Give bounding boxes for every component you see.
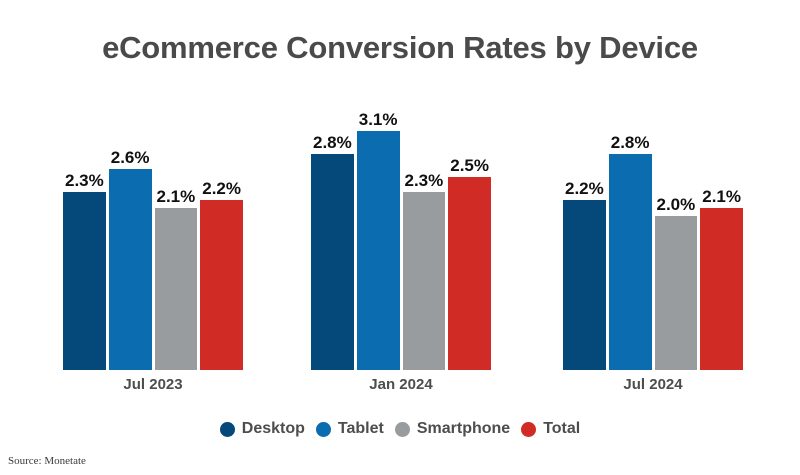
source-note: Source: Monetate <box>8 455 86 467</box>
chart-figure: eCommerce Conversion Rates by Device 2.3… <box>0 0 800 475</box>
legend-item[interactable]: Desktop <box>220 420 305 438</box>
bar[interactable] <box>311 154 354 370</box>
bar-value-label: 2.3% <box>405 172 444 189</box>
plot-area: 2.3%2.6%2.1%2.2%Jul 20232.8%3.1%2.3%2.5%… <box>0 92 800 370</box>
bar-group: 2.8%3.1%2.3%2.5%Jan 2024 <box>311 92 491 370</box>
bar-column: 2.1% <box>155 92 198 370</box>
legend-label: Total <box>543 420 580 438</box>
bar[interactable] <box>700 208 743 370</box>
legend-item[interactable]: Tablet <box>316 420 384 438</box>
legend-item[interactable]: Total <box>521 420 580 438</box>
legend-item[interactable]: Smartphone <box>395 420 510 438</box>
bar-value-label: 2.1% <box>157 188 196 205</box>
bar-group: 2.3%2.6%2.1%2.2%Jul 2023 <box>63 92 243 370</box>
x-axis-tick-label: Jul 2023 <box>63 376 243 393</box>
bar-column: 2.2% <box>563 92 606 370</box>
bar-value-label: 2.5% <box>450 157 489 174</box>
bar-value-label: 2.1% <box>702 188 741 205</box>
x-axis-tick-label: Jul 2024 <box>563 376 743 393</box>
bar-column: 2.6% <box>109 92 152 370</box>
bar-column: 2.3% <box>63 92 106 370</box>
bar[interactable] <box>155 208 198 370</box>
bar-column: 2.0% <box>655 92 698 370</box>
bar-value-label: 2.0% <box>657 196 696 213</box>
bar-value-label: 2.3% <box>65 172 104 189</box>
legend-circle-icon <box>521 422 536 437</box>
bar-value-label: 3.1% <box>359 111 398 128</box>
chart-legend: DesktopTabletSmartphoneTotal <box>0 420 800 438</box>
bar[interactable] <box>403 192 446 370</box>
legend-label: Smartphone <box>417 420 510 438</box>
bar[interactable] <box>63 192 106 370</box>
bar-column: 2.1% <box>700 92 743 370</box>
bar[interactable] <box>655 216 698 370</box>
legend-circle-icon <box>316 422 331 437</box>
bar[interactable] <box>357 131 400 370</box>
bar-group-bars: 2.8%3.1%2.3%2.5% <box>311 92 491 370</box>
legend-circle-icon <box>395 422 410 437</box>
bar-column: 2.8% <box>311 92 354 370</box>
bar-value-label: 2.8% <box>611 134 650 151</box>
bar-value-label: 2.2% <box>565 180 604 197</box>
bar-group-bars: 2.2%2.8%2.0%2.1% <box>563 92 743 370</box>
bar-value-label: 2.6% <box>111 149 150 166</box>
bar-column: 2.2% <box>200 92 243 370</box>
x-axis-tick-label: Jan 2024 <box>311 376 491 393</box>
bar-group: 2.2%2.8%2.0%2.1%Jul 2024 <box>563 92 743 370</box>
bar-column: 2.8% <box>609 92 652 370</box>
bar-column: 2.5% <box>448 92 491 370</box>
bar-column: 2.3% <box>403 92 446 370</box>
legend-circle-icon <box>220 422 235 437</box>
bar-group-bars: 2.3%2.6%2.1%2.2% <box>63 92 243 370</box>
bar-column: 3.1% <box>357 92 400 370</box>
bar[interactable] <box>609 154 652 370</box>
bar[interactable] <box>200 200 243 370</box>
chart-title: eCommerce Conversion Rates by Device <box>0 30 800 66</box>
bar[interactable] <box>448 177 491 370</box>
legend-label: Tablet <box>338 420 384 438</box>
bar-value-label: 2.8% <box>313 134 352 151</box>
bar-value-label: 2.2% <box>202 180 241 197</box>
bar[interactable] <box>563 200 606 370</box>
bar[interactable] <box>109 169 152 370</box>
legend-label: Desktop <box>242 420 305 438</box>
